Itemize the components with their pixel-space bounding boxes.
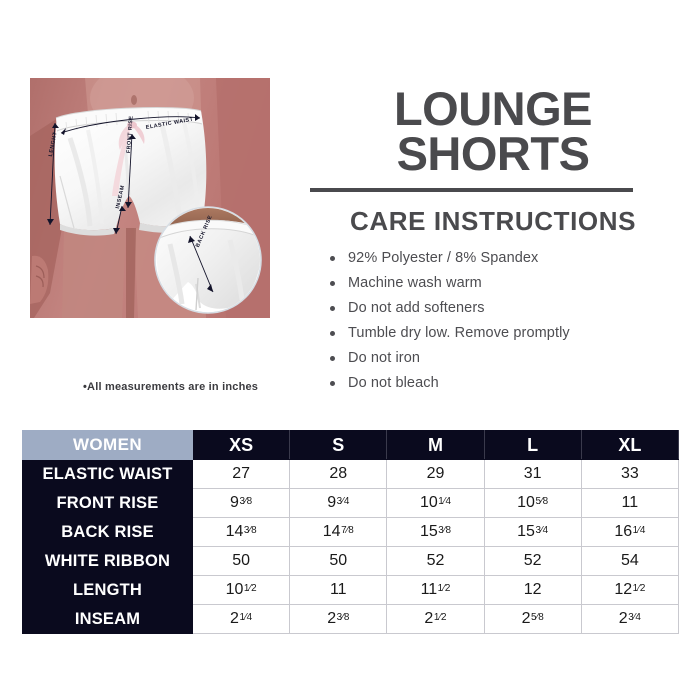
table-cell: 11 bbox=[581, 489, 678, 518]
table-cell: 54 bbox=[581, 547, 678, 576]
table-cell: 21⁄2 bbox=[387, 605, 484, 634]
table-row: BACK RISE 143⁄8 147⁄8 153⁄8 153⁄4 161⁄4 bbox=[23, 518, 679, 547]
row-label: LENGTH bbox=[23, 576, 193, 605]
table-cell: 31 bbox=[484, 460, 581, 489]
table-header-row: WOMEN XS S M L XL bbox=[23, 431, 679, 460]
list-item: Do not bleach bbox=[330, 376, 676, 391]
list-item: 92% Polyester / 8% Spandex bbox=[330, 251, 676, 266]
table-cell: 101⁄4 bbox=[387, 489, 484, 518]
size-chart-table: WOMEN XS S M L XL ELASTIC WAIST 27 28 29… bbox=[22, 430, 679, 634]
table-cell: 153⁄4 bbox=[484, 518, 581, 547]
table-cell: 23⁄8 bbox=[290, 605, 387, 634]
table-row: FRONT RISE 93⁄8 93⁄4 101⁄4 105⁄8 11 bbox=[23, 489, 679, 518]
size-header-m: M bbox=[387, 431, 484, 460]
table-cell: 105⁄8 bbox=[484, 489, 581, 518]
table-cell: 161⁄4 bbox=[581, 518, 678, 547]
table-cell: 50 bbox=[290, 547, 387, 576]
measurement-note: •All measurements are in inches bbox=[83, 381, 258, 393]
table-cell: 33 bbox=[581, 460, 678, 489]
row-label: INSEAM bbox=[23, 605, 193, 634]
product-photo-canvas: ELASTIC WAIST LENGHT FRONT RISE INSEAM B… bbox=[30, 78, 270, 345]
table-cell: 25⁄8 bbox=[484, 605, 581, 634]
table-cell: 101⁄2 bbox=[193, 576, 290, 605]
table-cell: 23⁄4 bbox=[581, 605, 678, 634]
table-row: LENGTH 101⁄2 11 111⁄2 12 121⁄2 bbox=[23, 576, 679, 605]
list-item: Machine wash warm bbox=[330, 276, 676, 291]
table-cell: 52 bbox=[387, 547, 484, 576]
table-cell: 143⁄8 bbox=[193, 518, 290, 547]
table-cell: 52 bbox=[484, 547, 581, 576]
table-cell: 12 bbox=[484, 576, 581, 605]
care-instructions-heading: CARE INSTRUCTIONS bbox=[310, 206, 676, 237]
table-corner-label: WOMEN bbox=[23, 431, 193, 460]
table-cell: 28 bbox=[290, 460, 387, 489]
row-label: FRONT RISE bbox=[23, 489, 193, 518]
title-divider bbox=[310, 188, 633, 192]
table-cell: 93⁄8 bbox=[193, 489, 290, 518]
table-cell: 121⁄2 bbox=[581, 576, 678, 605]
table-cell: 50 bbox=[193, 547, 290, 576]
shorts-illustration bbox=[30, 78, 270, 345]
row-label: ELASTIC WAIST bbox=[23, 460, 193, 489]
row-label: WHITE RIBBON bbox=[23, 547, 193, 576]
size-header-xl: XL bbox=[581, 431, 678, 460]
table-row: INSEAM 21⁄4 23⁄8 21⁄2 25⁄8 23⁄4 bbox=[23, 605, 679, 634]
table-cell: 27 bbox=[193, 460, 290, 489]
care-instructions-list: 92% Polyester / 8% Spandex Machine wash … bbox=[310, 251, 676, 391]
table-cell: 93⁄4 bbox=[290, 489, 387, 518]
list-item: Do not iron bbox=[330, 351, 676, 366]
size-header-l: L bbox=[484, 431, 581, 460]
table-cell: 147⁄8 bbox=[290, 518, 387, 547]
table-cell: 111⁄2 bbox=[387, 576, 484, 605]
table-cell: 153⁄8 bbox=[387, 518, 484, 547]
info-panel: LOUNGE SHORTS CARE INSTRUCTIONS 92% Poly… bbox=[310, 86, 676, 401]
page-title: LOUNGE SHORTS bbox=[310, 86, 676, 176]
table-cell: 29 bbox=[387, 460, 484, 489]
table-cell: 21⁄4 bbox=[193, 605, 290, 634]
size-chart-body: ELASTIC WAIST 27 28 29 31 33 FRONT RISE … bbox=[23, 460, 679, 634]
product-photo: ELASTIC WAIST LENGHT FRONT RISE INSEAM B… bbox=[30, 78, 270, 345]
table-row: ELASTIC WAIST 27 28 29 31 33 bbox=[23, 460, 679, 489]
list-item: Tumble dry low. Remove promptly bbox=[330, 326, 676, 341]
list-item: Do not add softeners bbox=[330, 301, 676, 316]
table-row: WHITE RIBBON 50 50 52 52 54 bbox=[23, 547, 679, 576]
row-label: BACK RISE bbox=[23, 518, 193, 547]
size-header-xs: XS bbox=[193, 431, 290, 460]
table-cell: 11 bbox=[290, 576, 387, 605]
size-header-s: S bbox=[290, 431, 387, 460]
